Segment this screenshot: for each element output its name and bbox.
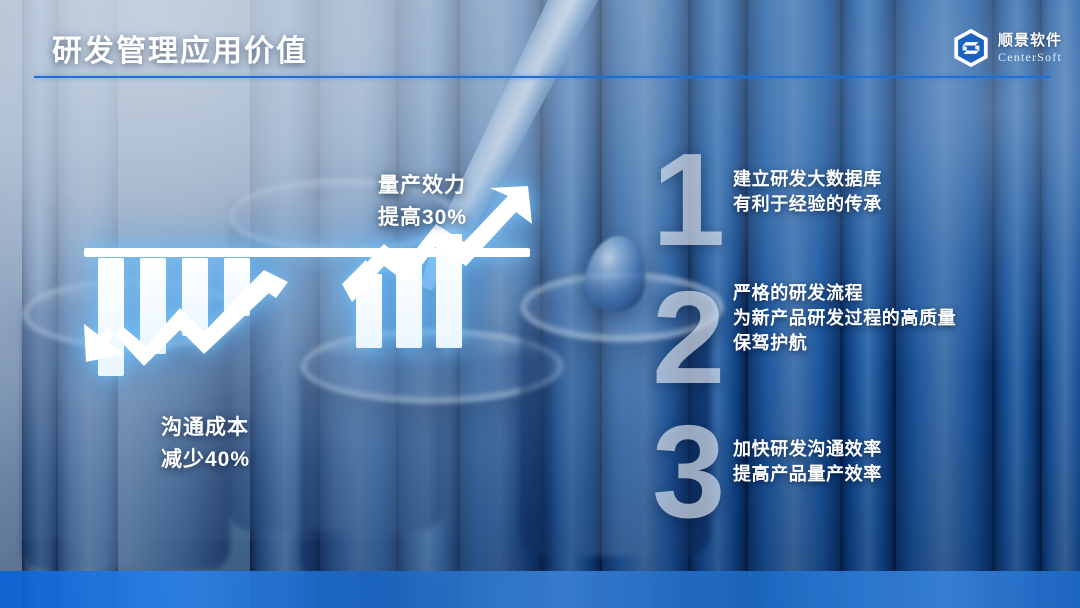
hexagon-s-logo-icon xyxy=(952,28,990,68)
bottom-accent-band xyxy=(0,571,1080,608)
callout-up-line1: 量产效力 xyxy=(378,170,467,202)
logo-name-cn: 顺景软件 xyxy=(998,33,1062,48)
point-text-2: 严格的研发流程 为新产品研发过程的高质量 保驾护航 xyxy=(733,281,956,356)
point-1-line2: 有利于经验的传承 xyxy=(733,192,882,217)
point-3-line2: 提高产品量产效率 xyxy=(733,462,882,487)
callout-up-line2: 提高30% xyxy=(378,202,467,234)
dual-trend-arrow-graphic xyxy=(84,186,574,468)
point-number-1: 1 xyxy=(652,134,725,266)
point-3-line1: 加快研发沟通效率 xyxy=(733,437,882,462)
point-2-line2: 为新产品研发过程的高质量 xyxy=(733,306,956,331)
point-text-1: 建立研发大数据库 有利于经验的传承 xyxy=(733,167,882,217)
logo-name-en: CenterSoft xyxy=(998,51,1062,63)
logo-wordmark: 顺景软件 CenterSoft xyxy=(998,33,1062,63)
brand-logo: 顺景软件 CenterSoft xyxy=(952,28,1062,68)
point-2-line3: 保驾护航 xyxy=(733,331,956,356)
point-text-3: 加快研发沟通效率 提高产品量产效率 xyxy=(733,437,882,487)
slide-canvas: 研发管理应用价值 顺景软件 CenterSoft xyxy=(0,0,1080,608)
title-underline xyxy=(34,76,1050,78)
callout-down-line1: 沟通成本 xyxy=(161,412,250,444)
page-title: 研发管理应用价值 xyxy=(52,26,308,70)
point-1-line1: 建立研发大数据库 xyxy=(733,167,882,192)
callout-production-efficiency: 量产效力 提高30% xyxy=(378,170,467,234)
point-2-line1: 严格的研发流程 xyxy=(733,281,956,306)
point-number-2: 2 xyxy=(652,272,725,404)
callout-communication-cost: 沟通成本 减少40% xyxy=(161,412,250,476)
callout-down-line2: 减少40% xyxy=(161,444,250,476)
point-number-3: 3 xyxy=(652,406,725,538)
